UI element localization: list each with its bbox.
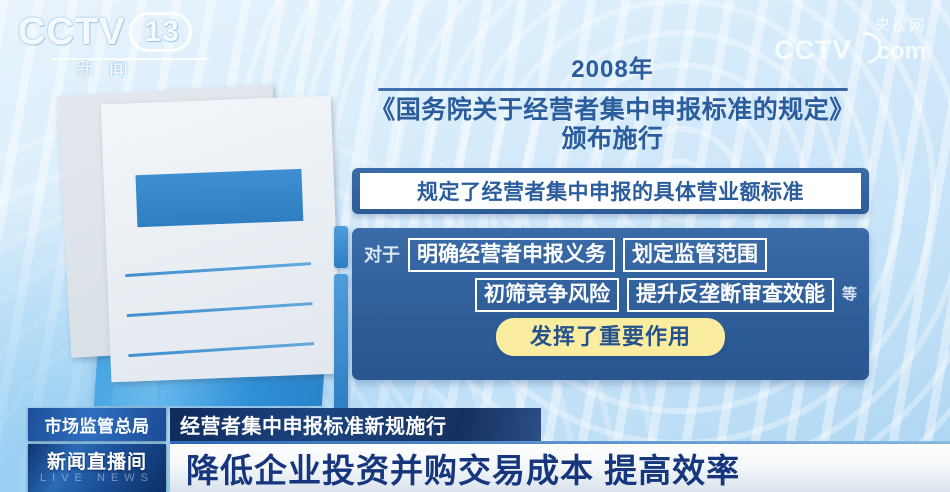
document-tab-lower [334,274,348,414]
source-tag: 市场监管总局 [28,408,166,441]
source-tag-text: 市场监管总局 [45,412,150,437]
subhead-band: 经营者集中申报标准新规施行 [170,408,541,441]
document-title-block [135,169,303,227]
document-text-line [125,262,311,277]
document-text-line [128,342,314,357]
cctv13-logo: CCTV 13 新闻 [18,12,248,72]
effect-chip-3: 初筛竞争风险 [475,278,619,312]
standard-banner: 规定了经营者集中申报的具体营业额标准 [352,168,869,214]
lower-third: 市场监管总局 经营者集中申报标准新规施行 新闻直播间 LIVE NEWS 降低企… [0,408,950,492]
hero-title-line2: 颁布施行 [350,125,875,154]
program-name-cn: 新闻直播间 [47,447,147,474]
standard-banner-text: 规定了经营者集中申报的具体营业额标准 [417,176,804,206]
effects-row-1: 对于 明确经营者申报义务 划定监管范围 [364,238,857,272]
document-text-line [127,302,313,317]
program-tag: 新闻直播间 LIVE NEWS [28,444,166,492]
standard-banner-inner: 规定了经营者集中申报的具体营业额标准 [360,173,861,209]
effect-chip-1: 明确经营者申报义务 [408,238,615,272]
effects-prefix: 对于 [364,240,400,270]
program-name-en: LIVE NEWS [40,472,154,484]
hero-heading: 2008年 《国务院关于经营者集中申报标准的规定》 颁布施行 [350,56,875,154]
logo-channel-number: 13 [129,12,191,52]
logo-cctv-text: CCTV [18,12,125,52]
document-tab-upper [334,226,348,268]
effect-chip-2: 划定监管范围 [623,238,767,272]
hero-title-line1: 《国务院关于经营者集中申报标准的规定》 [350,96,875,125]
document-illustration [58,78,368,408]
hero-divider [378,88,848,91]
effects-panel: 对于 明确经营者申报义务 划定监管范围 初筛竞争风险 提升反垄断审查效能 等 发… [352,228,869,380]
conclusion-pill: 发挥了重要作用 [496,318,725,356]
headline-text: 降低企业投资并购交易成本 提高效率 [186,444,740,492]
logo-underline [52,58,210,60]
broadcast-screen: CCTV 13 新闻 央视网 CCTV com 2008年 《国务院关于经营者集… [0,0,950,492]
watermark-com-text: com [877,40,926,64]
effects-suffix: 等 [842,280,857,310]
effect-chip-4: 提升反垄断审查效能 [627,278,834,312]
conclusion-row: 发挥了重要作用 [364,318,857,356]
hero-year: 2008年 [350,56,875,84]
logo-main-row: CCTV 13 [18,12,248,52]
headline-band: 降低企业投资并购交易成本 提高效率 [170,444,950,492]
document-sheet-front [101,96,342,383]
effects-row-2: 初筛竞争风险 提升反垄断审查效能 等 [364,278,857,312]
subhead-text: 经营者集中申报标准新规施行 [180,410,447,439]
